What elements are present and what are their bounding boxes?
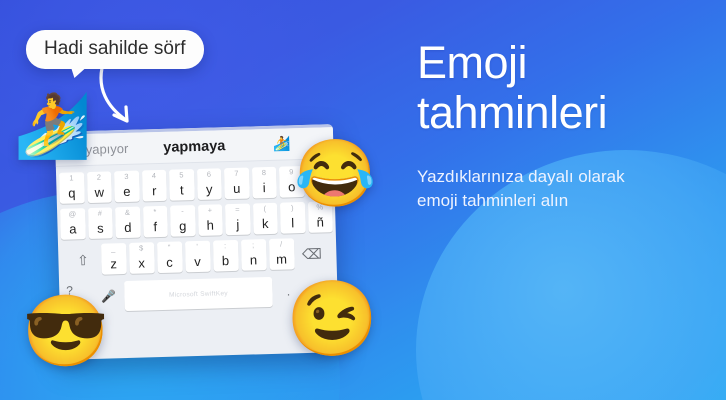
keyboard-row-2: @a #s &d *f -g +h =j (k )l %ñ	[60, 201, 333, 240]
key-alt: 1	[59, 174, 84, 182]
key-alt: 2	[87, 173, 112, 181]
shift-key[interactable]: ⇧	[68, 244, 99, 276]
headline-line-1: Emoji	[417, 37, 527, 88]
key-f[interactable]: *f	[142, 206, 167, 238]
key-alt: #	[88, 209, 113, 217]
key-alt: =	[225, 206, 250, 214]
key-v[interactable]: 'v	[184, 241, 210, 273]
key-label: u	[233, 182, 241, 195]
backspace-key[interactable]: ⌫	[296, 237, 327, 269]
key-q[interactable]: 1q	[59, 172, 84, 204]
speech-bubble: Hadi sahilde sörf	[26, 30, 204, 69]
key-label: g	[179, 219, 187, 232]
key-label: r	[152, 184, 157, 197]
key-alt: &	[115, 209, 140, 217]
promo-subheading: Yazdıklarınıza dayalı olarak emoji tahmi…	[417, 165, 647, 214]
key-k[interactable]: (k	[252, 203, 277, 235]
backspace-icon: ⌫	[302, 246, 322, 261]
key-d[interactable]: &d	[115, 207, 140, 239]
key-label: v	[194, 255, 201, 268]
face-with-tears-of-joy-emoji: 😂	[294, 140, 376, 206]
key-n[interactable]: ;n	[240, 239, 266, 271]
key-w[interactable]: 2w	[87, 171, 112, 203]
key-label: z	[110, 257, 117, 270]
key-i[interactable]: 8i	[251, 167, 276, 199]
key-alt: "	[157, 243, 182, 251]
key-label: w	[94, 186, 104, 199]
keyboard-row-3: ⇧ _z $x "c 'v :b ;n /m ⌫	[61, 237, 334, 276]
speech-bubble-text: Hadi sahilde sörf	[44, 39, 186, 58]
shift-icon: ⇧	[77, 253, 89, 267]
key-alt: $	[129, 244, 154, 252]
key-alt: +	[198, 206, 223, 214]
surfer-emoji: 🏄	[14, 96, 91, 158]
key-label: s	[97, 222, 104, 235]
key-label: h	[206, 219, 214, 232]
key-alt: @	[60, 210, 85, 218]
key-alt: /	[269, 240, 294, 248]
key-alt: 8	[251, 169, 276, 177]
key-alt: 3	[114, 173, 139, 181]
key-label: d	[124, 221, 132, 234]
key-label: l	[291, 216, 294, 229]
suggestion-item-2[interactable]: yapmaya	[150, 137, 238, 155]
key-label: ñ	[316, 215, 324, 228]
key-label: n	[250, 253, 258, 266]
key-label: b	[222, 254, 230, 267]
smiling-face-with-sunglasses-emoji: 😎	[22, 296, 109, 366]
key-alt: 4	[142, 172, 167, 180]
promo-text-panel: Emoji tahminleri Yazdıklarınıza dayalı o…	[417, 38, 717, 214]
key-label: a	[69, 222, 77, 235]
key-b[interactable]: :b	[212, 240, 238, 272]
key-alt: '	[185, 243, 210, 251]
key-label: q	[68, 186, 76, 199]
key-z[interactable]: _z	[101, 243, 127, 275]
key-alt: *	[143, 208, 168, 216]
key-y[interactable]: 6y	[196, 168, 221, 200]
key-label: x	[138, 256, 145, 269]
key-alt: ;	[241, 241, 266, 249]
key-s[interactable]: #s	[88, 207, 113, 239]
key-alt: :	[213, 242, 238, 250]
key-h[interactable]: +h	[197, 204, 222, 236]
key-u[interactable]: 7u	[224, 168, 249, 200]
key-label: k	[262, 217, 269, 230]
key-t[interactable]: 5t	[169, 169, 194, 201]
page-title: Emoji tahminleri	[417, 38, 717, 139]
key-label: e	[123, 185, 131, 198]
key-m[interactable]: /m	[268, 238, 294, 270]
key-label: f	[153, 220, 157, 233]
key-c[interactable]: "c	[156, 241, 182, 273]
key-alt: (	[253, 205, 278, 213]
key-a[interactable]: @a	[60, 208, 85, 240]
key-label: i	[263, 181, 266, 194]
key-label: m	[276, 252, 287, 265]
keyboard-row-1: 1q 2w 3e 4r 5t 6y 7u 8i 9o 0p	[59, 165, 332, 204]
key-g[interactable]: -g	[170, 205, 195, 237]
promo-banner: Hadi sahilde sörf yapıyor yapmaya 🏄 1q 2…	[0, 0, 726, 400]
key-alt: 5	[169, 171, 194, 179]
key-label: j	[236, 218, 239, 231]
spacebar[interactable]: Microsoft SwiftKey	[124, 277, 273, 311]
winking-face-emoji: 😉	[286, 282, 378, 356]
speech-bubble-body: Hadi sahilde sörf	[26, 30, 204, 69]
key-alt: _	[101, 245, 126, 253]
key-alt: 7	[224, 170, 249, 178]
key-label: y	[206, 183, 213, 196]
key-j[interactable]: =j	[225, 204, 250, 236]
headline-line-2: tahminleri	[417, 88, 717, 138]
key-label: c	[166, 256, 173, 269]
key-alt: 6	[197, 170, 222, 178]
spacebar-label: Microsoft SwiftKey	[169, 290, 228, 299]
key-e[interactable]: 3e	[114, 171, 139, 203]
key-r[interactable]: 4r	[141, 170, 166, 202]
key-alt: -	[170, 207, 195, 215]
key-x[interactable]: $x	[128, 242, 154, 274]
key-label: t	[180, 183, 184, 196]
